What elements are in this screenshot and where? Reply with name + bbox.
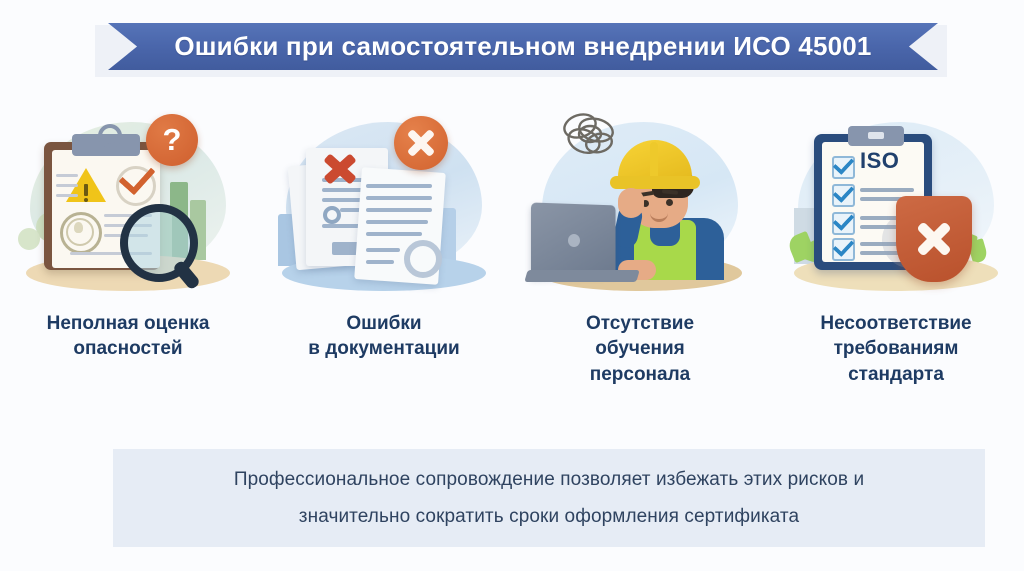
text-line — [366, 232, 422, 236]
caption-line: в документации — [266, 336, 502, 361]
laptop-logo — [568, 234, 580, 247]
card-lack-of-staff-training: Отсутствие обучения персонала — [512, 108, 768, 438]
text-line — [366, 260, 394, 264]
card-standard-noncompliance: ISO Несоответствие требованиям стандарта — [768, 108, 1024, 438]
text-line — [366, 196, 432, 200]
illustration-confused-worker-laptop — [522, 108, 758, 303]
text-line — [860, 188, 914, 192]
iso-label: ISO — [860, 148, 899, 174]
footer-note-line-2: значительно сократить сроки оформления с… — [299, 498, 799, 535]
caption-line: требованиям — [778, 336, 1014, 361]
footer-note-box: Профессиональное сопровождение позволяет… — [113, 449, 985, 547]
text-line — [56, 174, 78, 177]
hard-hat-brim — [610, 176, 700, 189]
clipboard-clamp-slot — [868, 132, 884, 139]
worker-hand-on-head — [618, 188, 644, 218]
scribble-thought-icon — [550, 110, 630, 166]
card-caption: Неполная оценка опасностей — [10, 311, 246, 362]
red-cross-icon — [314, 144, 360, 190]
text-line — [366, 208, 432, 212]
caption-line: Отсутствие — [522, 311, 758, 336]
text-line — [56, 194, 78, 197]
caption-line: Несоответствие — [778, 311, 1014, 336]
footer-note-line-1: Профессиональное сопровождение позволяет… — [234, 461, 864, 498]
text-line — [366, 220, 428, 224]
caption-line: обучения — [522, 336, 758, 361]
worker-eye-right — [666, 199, 673, 206]
text-line — [366, 184, 432, 188]
cards-row: ? Неполная оценка опасностей — [0, 108, 1024, 438]
text-line — [366, 248, 400, 252]
seal-stamp-icon — [404, 240, 442, 278]
card-caption: Несоответствие требованиям стандарта — [778, 311, 1014, 387]
page-title: Ошибки при самостоятельном внедрении ИСО… — [174, 31, 871, 62]
card-incomplete-hazard-assessment: ? Неполная оценка опасностей — [0, 108, 256, 438]
hard-hat-rib — [650, 142, 658, 180]
caption-line: персонала — [522, 362, 758, 387]
warning-exclamation-dot — [84, 198, 88, 202]
cross-circle-badge-icon — [394, 116, 448, 170]
question-mark-badge-icon: ? — [146, 114, 198, 166]
document-bullet-icon — [323, 206, 341, 224]
illustration-document-stack — [266, 108, 502, 303]
text-line — [56, 184, 78, 187]
shield-cross-icon — [896, 196, 972, 282]
illustration-iso-checklist-shield: ISO — [778, 108, 1014, 303]
title-banner: Ошибки при самостоятельном внедрении ИСО… — [108, 23, 938, 70]
card-documentation-errors: Ошибки в документации — [256, 108, 512, 438]
lightbulb-icon — [74, 222, 83, 233]
card-caption: Отсутствие обучения персонала — [522, 311, 758, 387]
illustration-clipboard-magnifier: ? — [10, 108, 246, 303]
caption-line: опасностей — [10, 336, 246, 361]
caption-line: стандарта — [778, 362, 1014, 387]
title-banner-area: Ошибки при самостоятельном внедрении ИСО… — [0, 18, 1024, 78]
laptop-base — [524, 270, 639, 282]
caption-line: Неполная оценка — [10, 311, 246, 336]
caption-line: Ошибки — [266, 311, 502, 336]
tree-icon-2 — [18, 228, 40, 250]
card-caption: Ошибки в документации — [266, 311, 502, 362]
clipboard-ring — [98, 124, 122, 148]
warning-exclamation — [84, 184, 88, 196]
